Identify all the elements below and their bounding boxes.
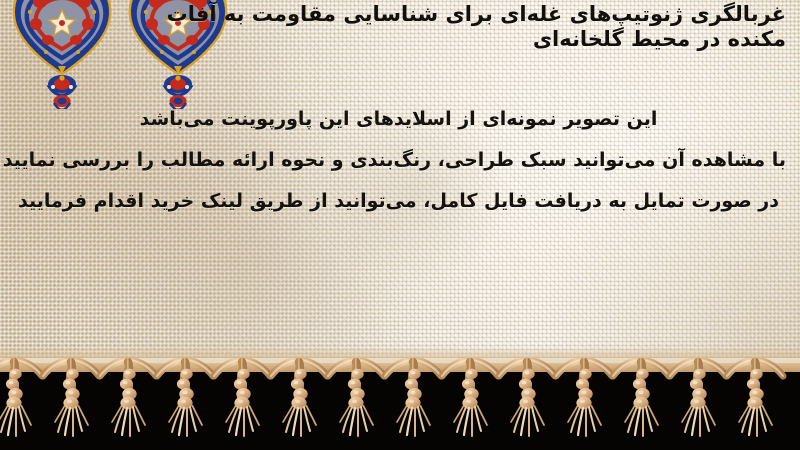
medallion-left bbox=[14, 0, 110, 74]
pendant-right bbox=[164, 75, 192, 109]
slide-title-line-2: مکنده در محیط گلخانه‌ای bbox=[186, 27, 786, 52]
slide-title: غربالگری ژنوتیپ‌های غله‌ای برای شناسایی … bbox=[186, 2, 786, 52]
slide-body-line-2: با مشاهده آن می‌توانید سبک طراحی، رنگ‌بن… bbox=[11, 149, 786, 171]
pendant-left bbox=[48, 75, 76, 109]
slide-body-line-1: این تصویر نمونه‌ای از اسلایدهای این پاور… bbox=[11, 108, 786, 130]
slide-body: این تصویر نمونه‌ای از اسلایدهای این پاور… bbox=[11, 108, 786, 212]
carpet-fringe bbox=[0, 358, 800, 450]
slide-canvas: غربالگری ژنوتیپ‌های غله‌ای برای شناسایی … bbox=[0, 0, 800, 450]
slide-body-line-3: در صورت تمایل به دریافت فایل کامل، می‌تو… bbox=[11, 190, 786, 212]
slide-title-line-1: غربالگری ژنوتیپ‌های غله‌ای برای شناسایی … bbox=[186, 2, 786, 27]
